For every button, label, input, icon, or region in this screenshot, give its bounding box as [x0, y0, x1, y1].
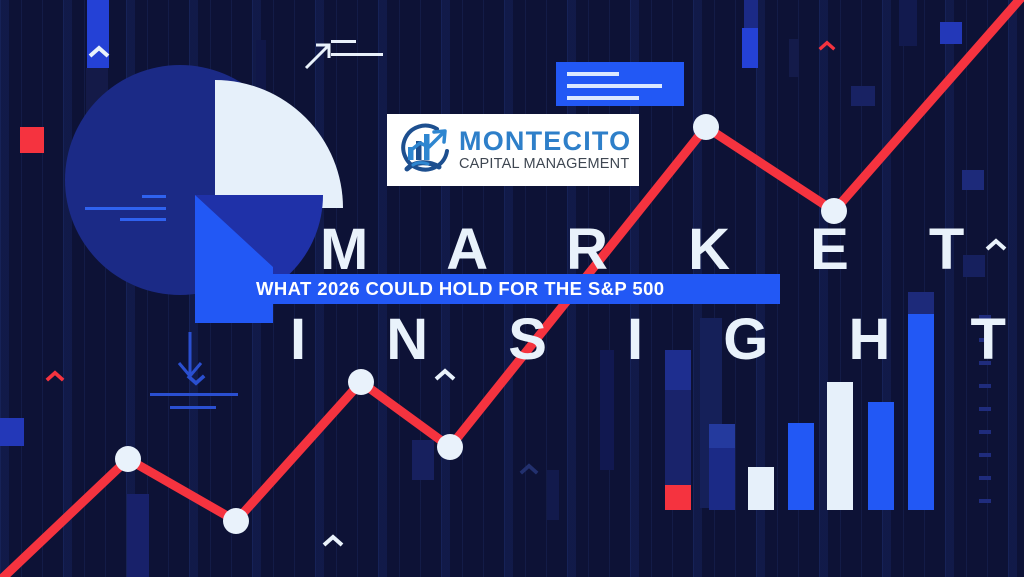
logo-title: MONTECITO	[459, 128, 631, 155]
page-title-line2: I N S I G H T S	[290, 306, 1024, 373]
subtitle-banner: WHAT 2026 COULD HOLD FOR THE S&P 500	[238, 274, 780, 304]
page-title-line1: M A R K E T	[320, 216, 996, 283]
line-marker	[437, 434, 463, 460]
line-marker	[223, 508, 249, 534]
logo-subtitle: CAPITAL MANAGEMENT	[459, 157, 631, 172]
brand-logo[interactable]: MONTECITO CAPITAL MANAGEMENT	[387, 114, 639, 186]
line-marker	[115, 446, 141, 472]
line-marker	[693, 114, 719, 140]
subtitle-text: WHAT 2026 COULD HOLD FOR THE S&P 500	[256, 278, 664, 300]
poster-canvas: M A R K E T I N S I G H T S WHAT 2026 CO…	[0, 0, 1024, 577]
bar-chart-arrow-hand-logo-icon	[393, 121, 457, 179]
